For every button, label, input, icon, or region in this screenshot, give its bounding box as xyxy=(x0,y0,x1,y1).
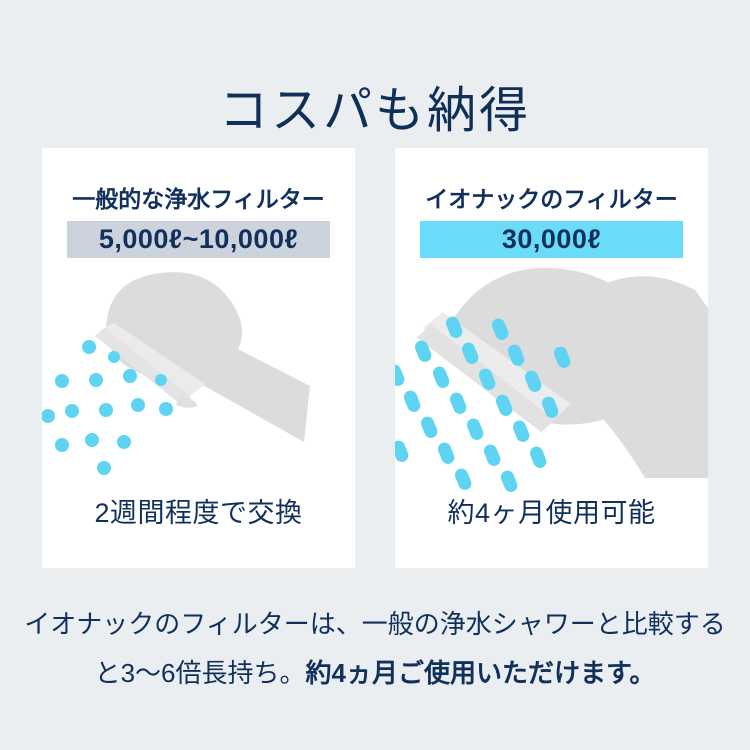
card-caption: 約4ヶ月使用可能 xyxy=(395,491,708,530)
page-title: コスパも納得 xyxy=(0,81,750,142)
card-caption: 2週間程度で交換 xyxy=(42,491,355,530)
showerhead-weak-spray-icon xyxy=(42,268,355,508)
infographic-page: コスパも納得 一般的な浄水フィルター 5,000ℓ~10,000ℓ xyxy=(0,0,750,750)
comparison-cards: 一般的な浄水フィルター 5,000ℓ~10,000ℓ xyxy=(42,148,708,568)
footnote-line-1: イオナックのフィルターは、一般の浄水シャワーと比較する xyxy=(0,600,750,649)
footnote-line-2-bold: 約4ヵ月ご使用いただけます。 xyxy=(306,658,656,688)
capacity-banner: 30,000ℓ xyxy=(420,221,683,258)
showerhead-strong-spray-icon xyxy=(395,268,708,508)
capacity-banner: 5,000ℓ~10,000ℓ xyxy=(67,221,330,258)
capacity-value: 5,000ℓ~10,000ℓ xyxy=(99,224,298,255)
card-general-filter: 一般的な浄水フィルター 5,000ℓ~10,000ℓ xyxy=(42,148,355,568)
footnote-line-2-normal: と3〜6倍長持ち。 xyxy=(95,658,306,688)
card-ionac-filter: イオナックのフィルター 30,000ℓ xyxy=(395,148,708,568)
footnote: イオナックのフィルターは、一般の浄水シャワーと比較する と3〜6倍長持ち。約4ヵ… xyxy=(0,600,750,698)
card-heading: イオナックのフィルター xyxy=(395,180,708,214)
capacity-value: 30,000ℓ xyxy=(502,224,601,255)
footnote-line-2: と3〜6倍長持ち。約4ヵ月ご使用いただけます。 xyxy=(0,649,750,698)
card-heading: 一般的な浄水フィルター xyxy=(42,180,355,214)
